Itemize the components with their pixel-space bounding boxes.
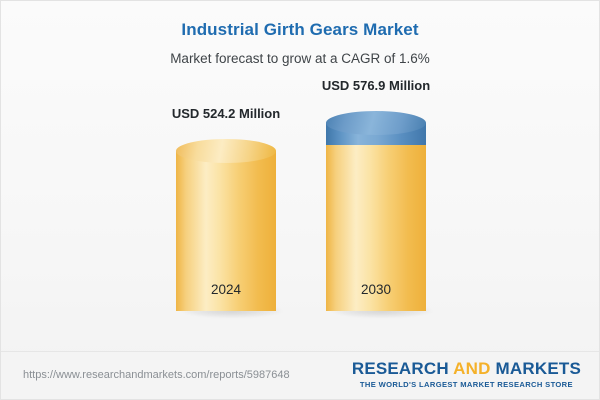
bar-top-ellipse-yellow [176,139,276,163]
bar-top-ellipse-blue [326,111,426,135]
x-axis-tick-2030: 2030 [361,282,391,297]
logo-wordmark: RESEARCH AND MARKETS [352,359,581,378]
market-infographic: Industrial Girth Gears Market Market for… [0,0,600,400]
logo-word-and: AND [453,359,490,378]
logo-tagline: THE WORLD'S LARGEST MARKET RESEARCH STOR… [352,379,581,390]
bar-value-label-2024: USD 524.2 Million [172,106,280,121]
infographic-footer: https://www.researchandmarkets.com/repor… [1,351,599,399]
bar-chart-plot: USD 524.2 Million 2024 USD 576.9 Million [1,1,600,353]
research-and-markets-logo[interactable]: RESEARCH AND MARKETS THE WORLD'S LARGEST… [352,359,581,390]
bar-cap-blue [326,123,426,145]
logo-word-markets: MARKETS [496,359,581,378]
logo-word-research: RESEARCH [352,359,449,378]
report-url-link[interactable]: https://www.researchandmarkets.com/repor… [23,369,290,381]
bar-cylinder-2030 [326,111,426,311]
bar-value-label-2030: USD 576.9 Million [322,78,430,93]
x-axis-tick-2024: 2024 [211,282,241,297]
